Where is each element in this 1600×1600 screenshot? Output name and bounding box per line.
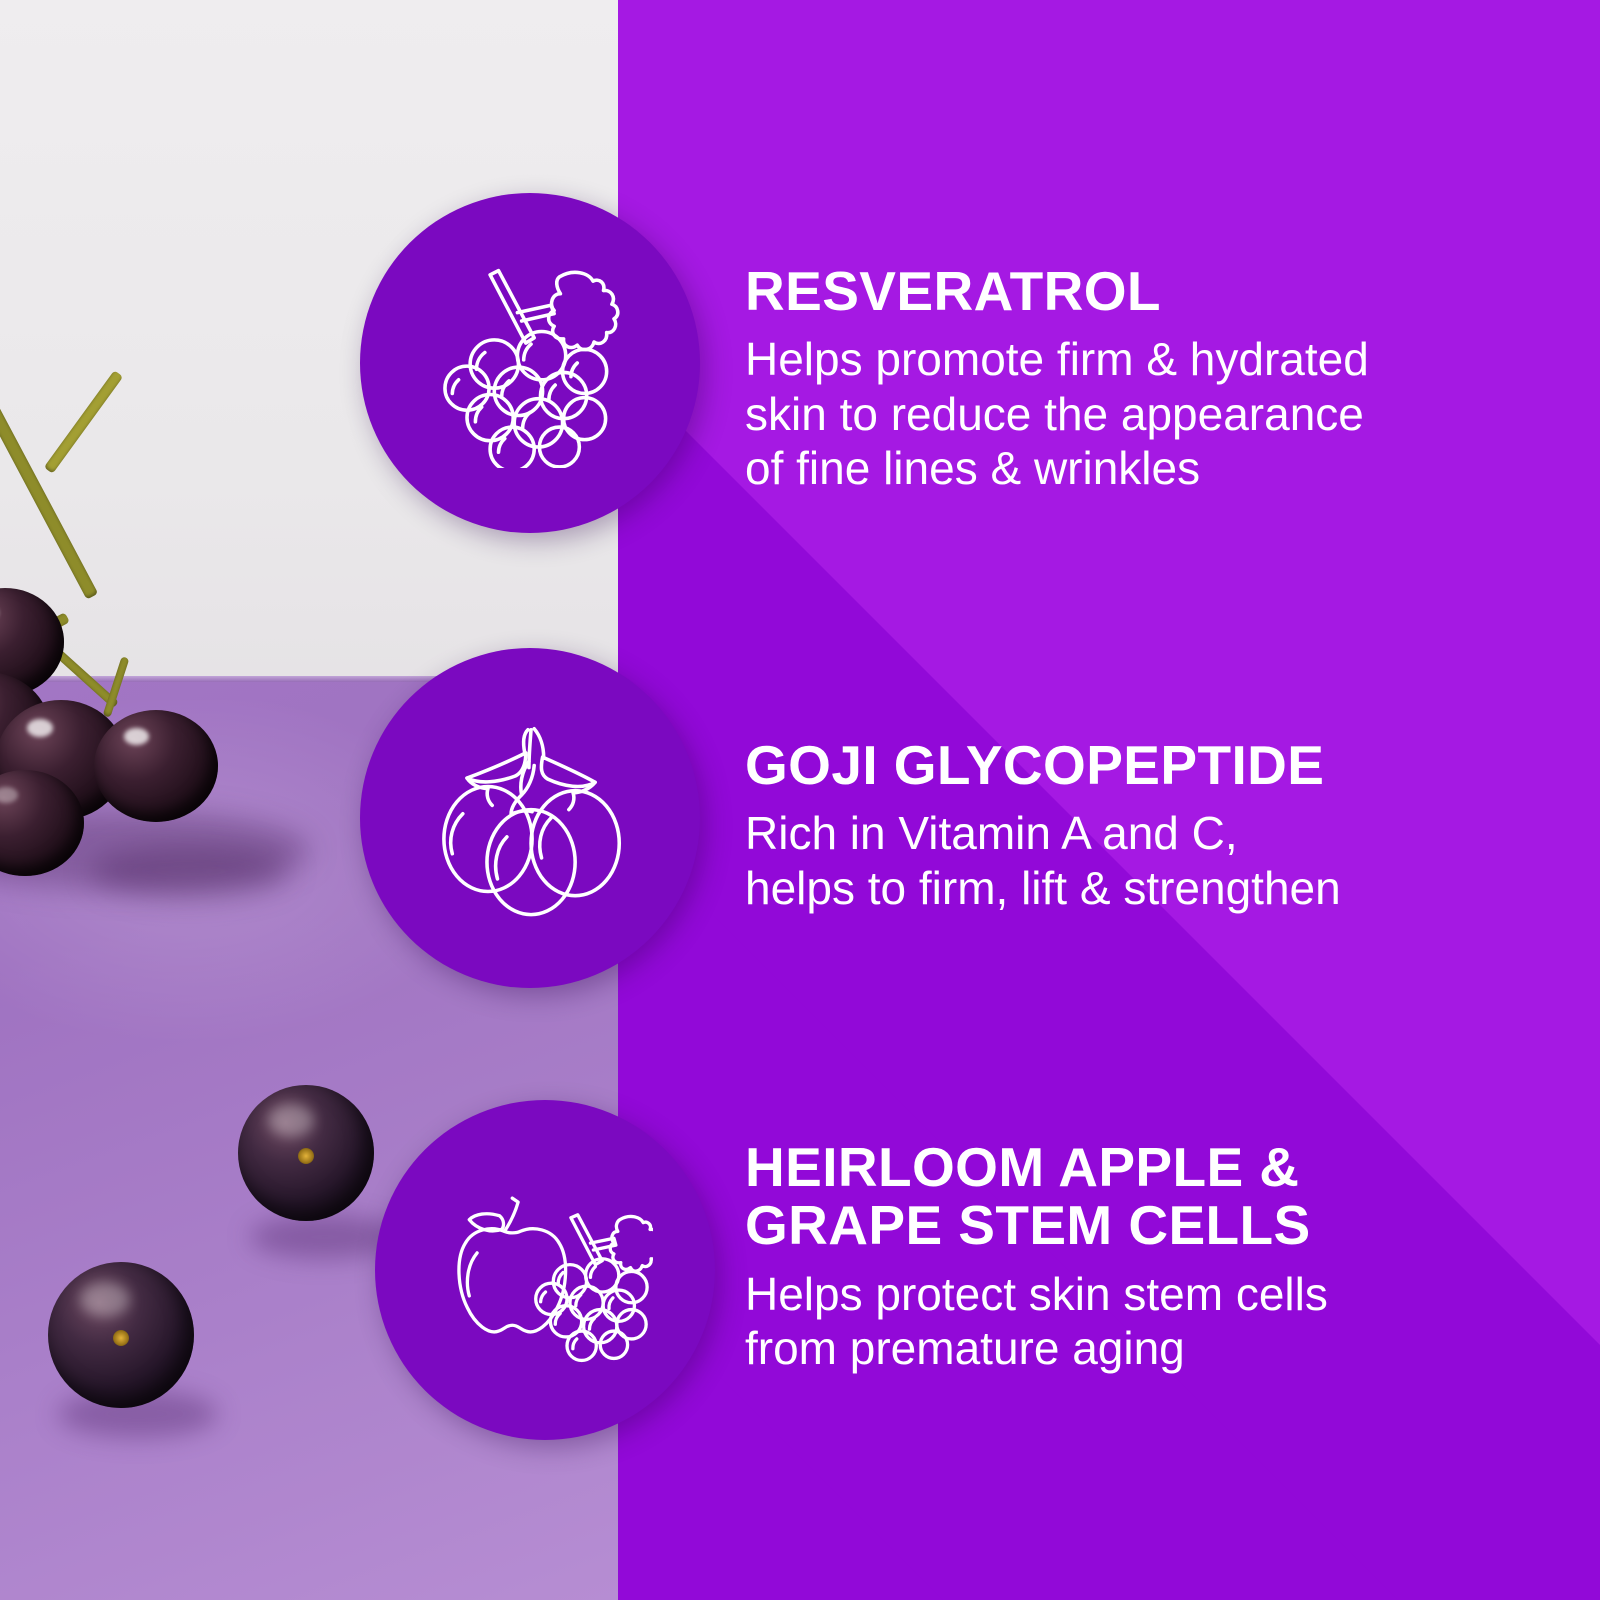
- grape-highlight: [268, 1104, 314, 1137]
- grape-stem-tip: [103, 656, 130, 717]
- ingredient-heading: HEIRLOOM APPLE & GRAPE STEM CELLS: [745, 1138, 1535, 1255]
- apple-and-grape-icon: [438, 1163, 653, 1378]
- berry: [94, 710, 218, 822]
- grape-calyx: [113, 1330, 129, 1346]
- ingredient-block-3: HEIRLOOM APPLE & GRAPE STEM CELLS Helps …: [745, 1138, 1535, 1375]
- ingredient-description: Rich in Vitamin A and C, helps to firm, …: [745, 806, 1535, 915]
- ingredient-description: Helps promote firm & hydrated skin to re…: [745, 332, 1535, 495]
- ingredient-block-2: GOJI GLYCOPEPTIDE Rich in Vitamin A and …: [745, 736, 1535, 915]
- grape-cluster-icon: [425, 258, 635, 468]
- loose-grape-lower: [48, 1262, 194, 1408]
- grape-calyx: [298, 1148, 314, 1164]
- grape-highlight: [80, 1282, 130, 1317]
- icon-badge-stem-cells[interactable]: [375, 1100, 715, 1440]
- ingredient-heading: RESVERATROL: [745, 262, 1535, 320]
- icon-badge-resveratrol[interactable]: [360, 193, 700, 533]
- icon-badge-goji[interactable]: [360, 648, 700, 988]
- ingredient-description: Helps protect skin stem cells from prema…: [745, 1267, 1535, 1376]
- goji-berries-icon: [425, 713, 635, 923]
- infographic-canvas: RESVERATROL Helps promote firm & hydrate…: [0, 0, 1600, 1600]
- ingredient-block-1: RESVERATROL Helps promote firm & hydrate…: [745, 262, 1535, 495]
- grape-cluster: [0, 560, 370, 890]
- loose-grape-upper: [238, 1085, 374, 1221]
- ingredient-heading: GOJI GLYCOPEPTIDE: [745, 736, 1535, 794]
